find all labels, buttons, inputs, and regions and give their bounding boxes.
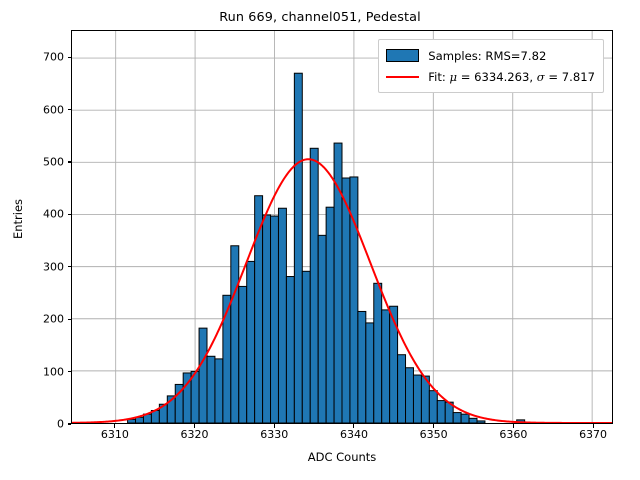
x-tick-label: 6320: [181, 428, 209, 441]
page-title: Run 669, channel051, Pedestal: [0, 10, 640, 25]
y-tick-label: 0: [57, 418, 64, 431]
x-tick-label: 6370: [579, 428, 607, 441]
legend-entry-samples: Samples: RMS=7.82: [386, 45, 595, 66]
x-tick-mark: [274, 424, 275, 428]
x-tick-label: 6340: [340, 428, 368, 441]
x-axis-title: ADC Counts: [71, 450, 613, 464]
x-tick-mark: [194, 424, 195, 428]
x-tick-label: 6350: [420, 428, 448, 441]
y-tick-label: 700: [43, 51, 64, 64]
legend-entry-fit: Fit: μ = 6334.263, σ = 7.817: [386, 66, 595, 87]
legend-line-icon: [386, 70, 419, 83]
x-tick-label: 6330: [260, 428, 288, 441]
figure-canvas: Run 669, channel051, Pedestal Samples: R…: [0, 0, 640, 480]
y-tick-label: 500: [43, 156, 64, 169]
x-axis-tick-labels: 6310632063306340635063606370: [71, 428, 613, 448]
y-tick-label: 300: [43, 260, 64, 273]
x-tick-mark: [433, 424, 434, 428]
x-tick-label: 6310: [101, 428, 129, 441]
legend-patch-icon: [386, 49, 419, 62]
y-axis-title: Entries: [11, 119, 25, 319]
x-tick-mark: [353, 424, 354, 428]
x-tick-mark: [593, 424, 594, 428]
plot-area: Samples: RMS=7.82 Fit: μ = 6334.263, σ =…: [71, 30, 613, 424]
legend: Samples: RMS=7.82 Fit: μ = 6334.263, σ =…: [378, 39, 604, 93]
legend-label-samples: Samples: RMS=7.82: [428, 49, 546, 63]
x-tick-mark: [513, 424, 514, 428]
y-axis-tick-labels: 0100200300400500600700: [0, 30, 64, 424]
y-tick-label: 100: [43, 365, 64, 378]
x-tick-mark: [114, 424, 115, 428]
x-tick-label: 6360: [499, 428, 527, 441]
y-tick-label: 600: [43, 103, 64, 116]
legend-label-fit: Fit: μ = 6334.263, σ = 7.817: [428, 70, 595, 84]
y-tick-label: 200: [43, 313, 64, 326]
y-tick-label: 400: [43, 208, 64, 221]
